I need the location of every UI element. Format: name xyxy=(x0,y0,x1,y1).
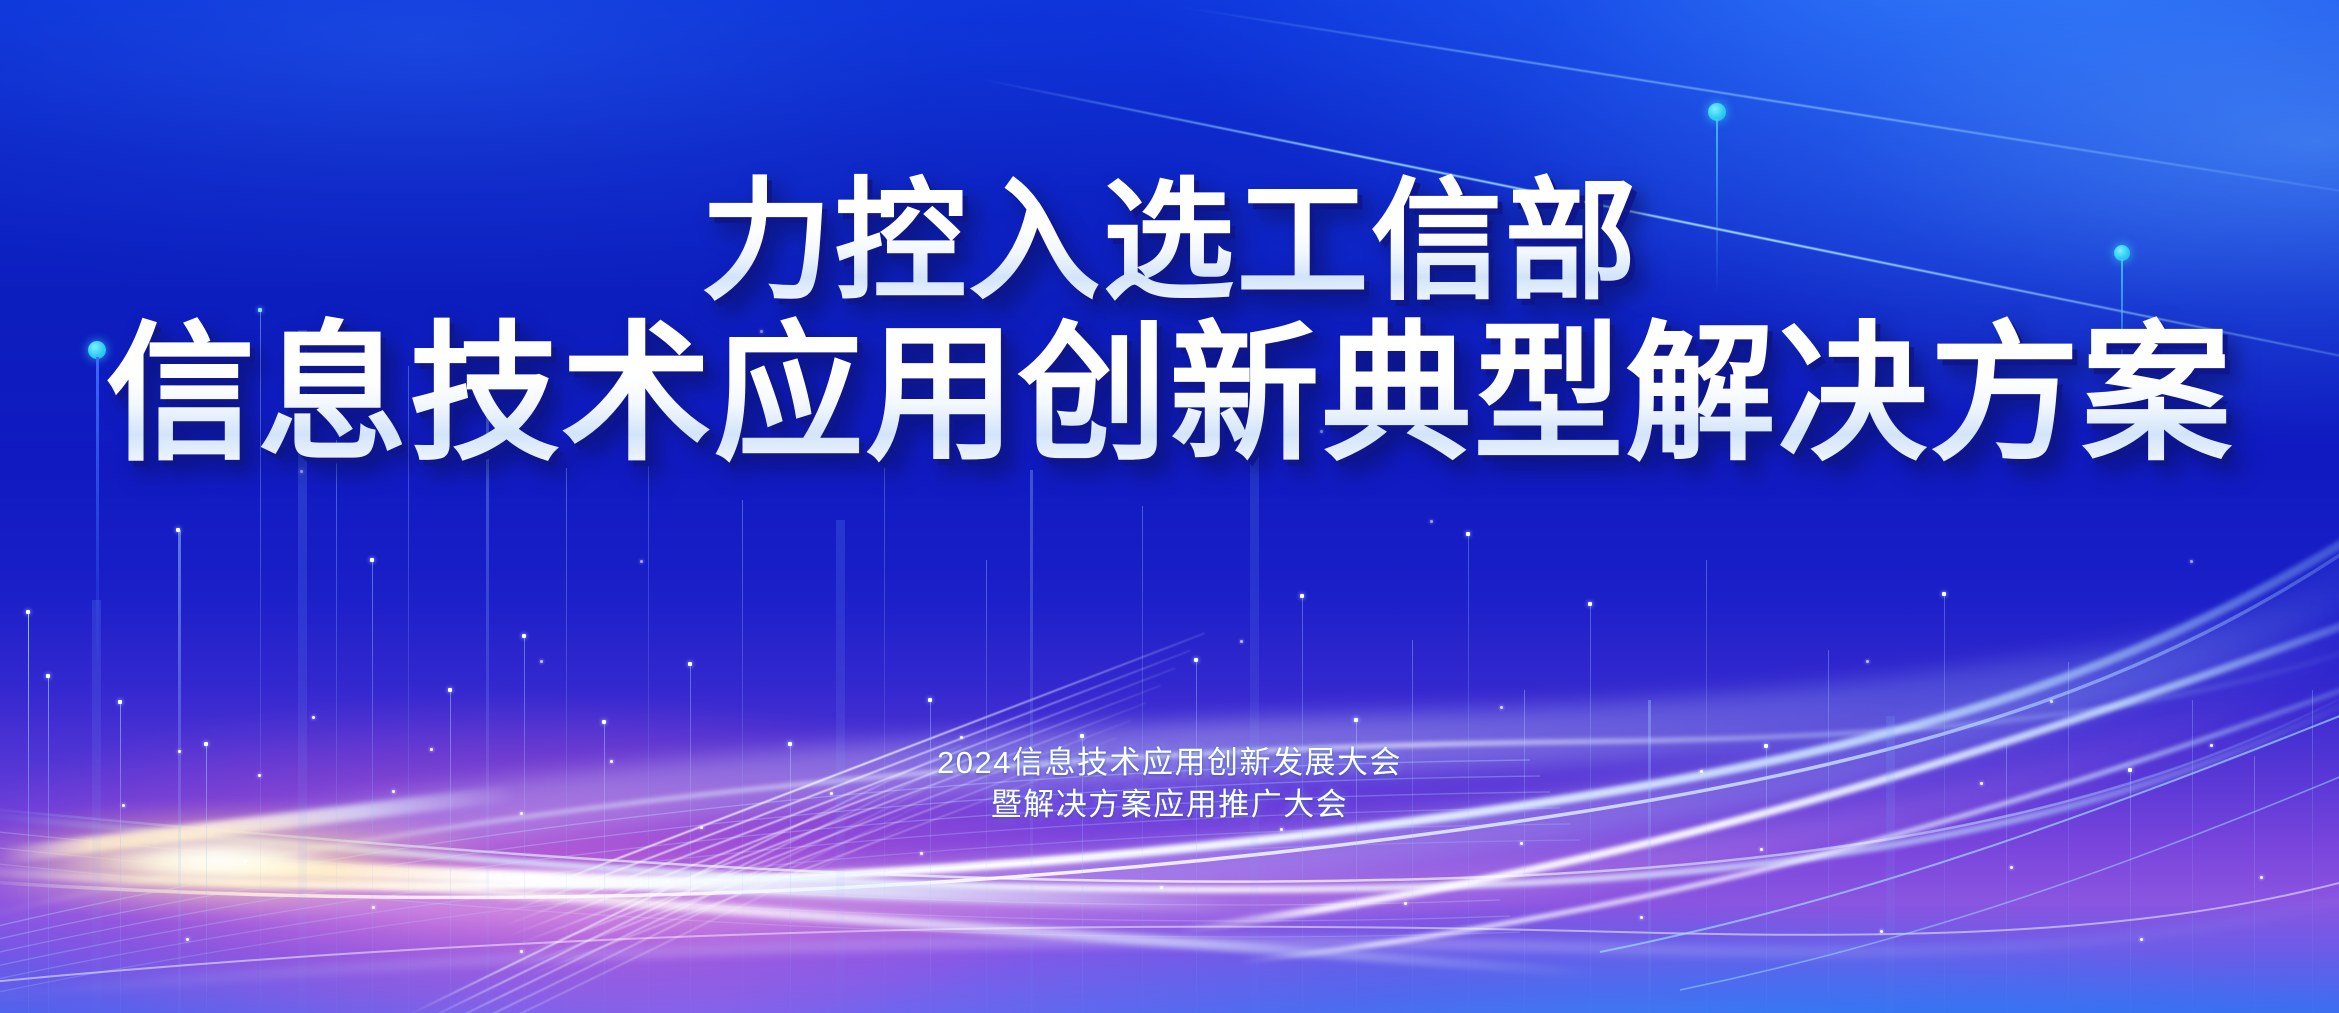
sparkle-dot xyxy=(2260,876,2263,879)
sparkle-dot xyxy=(244,860,247,863)
sparkle-dot xyxy=(540,660,543,663)
sparkle-dot xyxy=(2010,866,2013,869)
sparkle-dot xyxy=(1760,848,1763,851)
sparkle-dot xyxy=(1500,706,1503,709)
sparkle-dot xyxy=(1404,902,1407,905)
sparkle-dot xyxy=(640,560,643,563)
sparkle-dot xyxy=(2190,560,2193,563)
sparkle-dot xyxy=(1880,930,1883,933)
title-line-1: 力控入选工信部 xyxy=(0,168,2339,316)
banner-subtitle: 2024信息技术应用创新发展大会 暨解决方案应用推广大会 xyxy=(0,742,2339,826)
sparkle-dot xyxy=(1430,520,1433,523)
sparkle-dot xyxy=(372,906,375,909)
banner-title: 力控入选工信部 信息技术应用创新典型解决方案 xyxy=(0,168,2339,478)
sparkle-dot xyxy=(920,852,923,855)
sparkle-dot xyxy=(312,716,315,719)
vertical-light-streaks xyxy=(0,0,2339,1013)
sparkle-dot xyxy=(520,950,523,953)
sparkle-dot xyxy=(1520,842,1523,845)
subtitle-line-1: 2024信息技术应用创新发展大会 xyxy=(0,742,2339,784)
sparkle-dot xyxy=(1160,886,1163,889)
subtitle-line-2: 暨解决方案应用推广大会 xyxy=(0,784,2339,826)
sparkle-dot xyxy=(2050,700,2053,703)
sparkle-dot xyxy=(700,826,703,829)
sparkle-dot xyxy=(1640,916,1643,919)
sparkle-dot xyxy=(960,736,963,739)
sparkle-dot xyxy=(1240,640,1243,643)
sparkle-dot xyxy=(1866,660,1869,663)
title-line-2: 信息技术应用创新典型解决方案 xyxy=(0,310,2339,478)
sparkle-dot xyxy=(1280,828,1283,831)
sparkle-dot xyxy=(666,880,669,883)
sparkle-dot xyxy=(186,938,189,941)
sparkle-dot xyxy=(2140,938,2143,941)
conference-banner: 力控入选工信部 信息技术应用创新典型解决方案 2024信息技术应用创新发展大会 … xyxy=(0,0,2339,1013)
